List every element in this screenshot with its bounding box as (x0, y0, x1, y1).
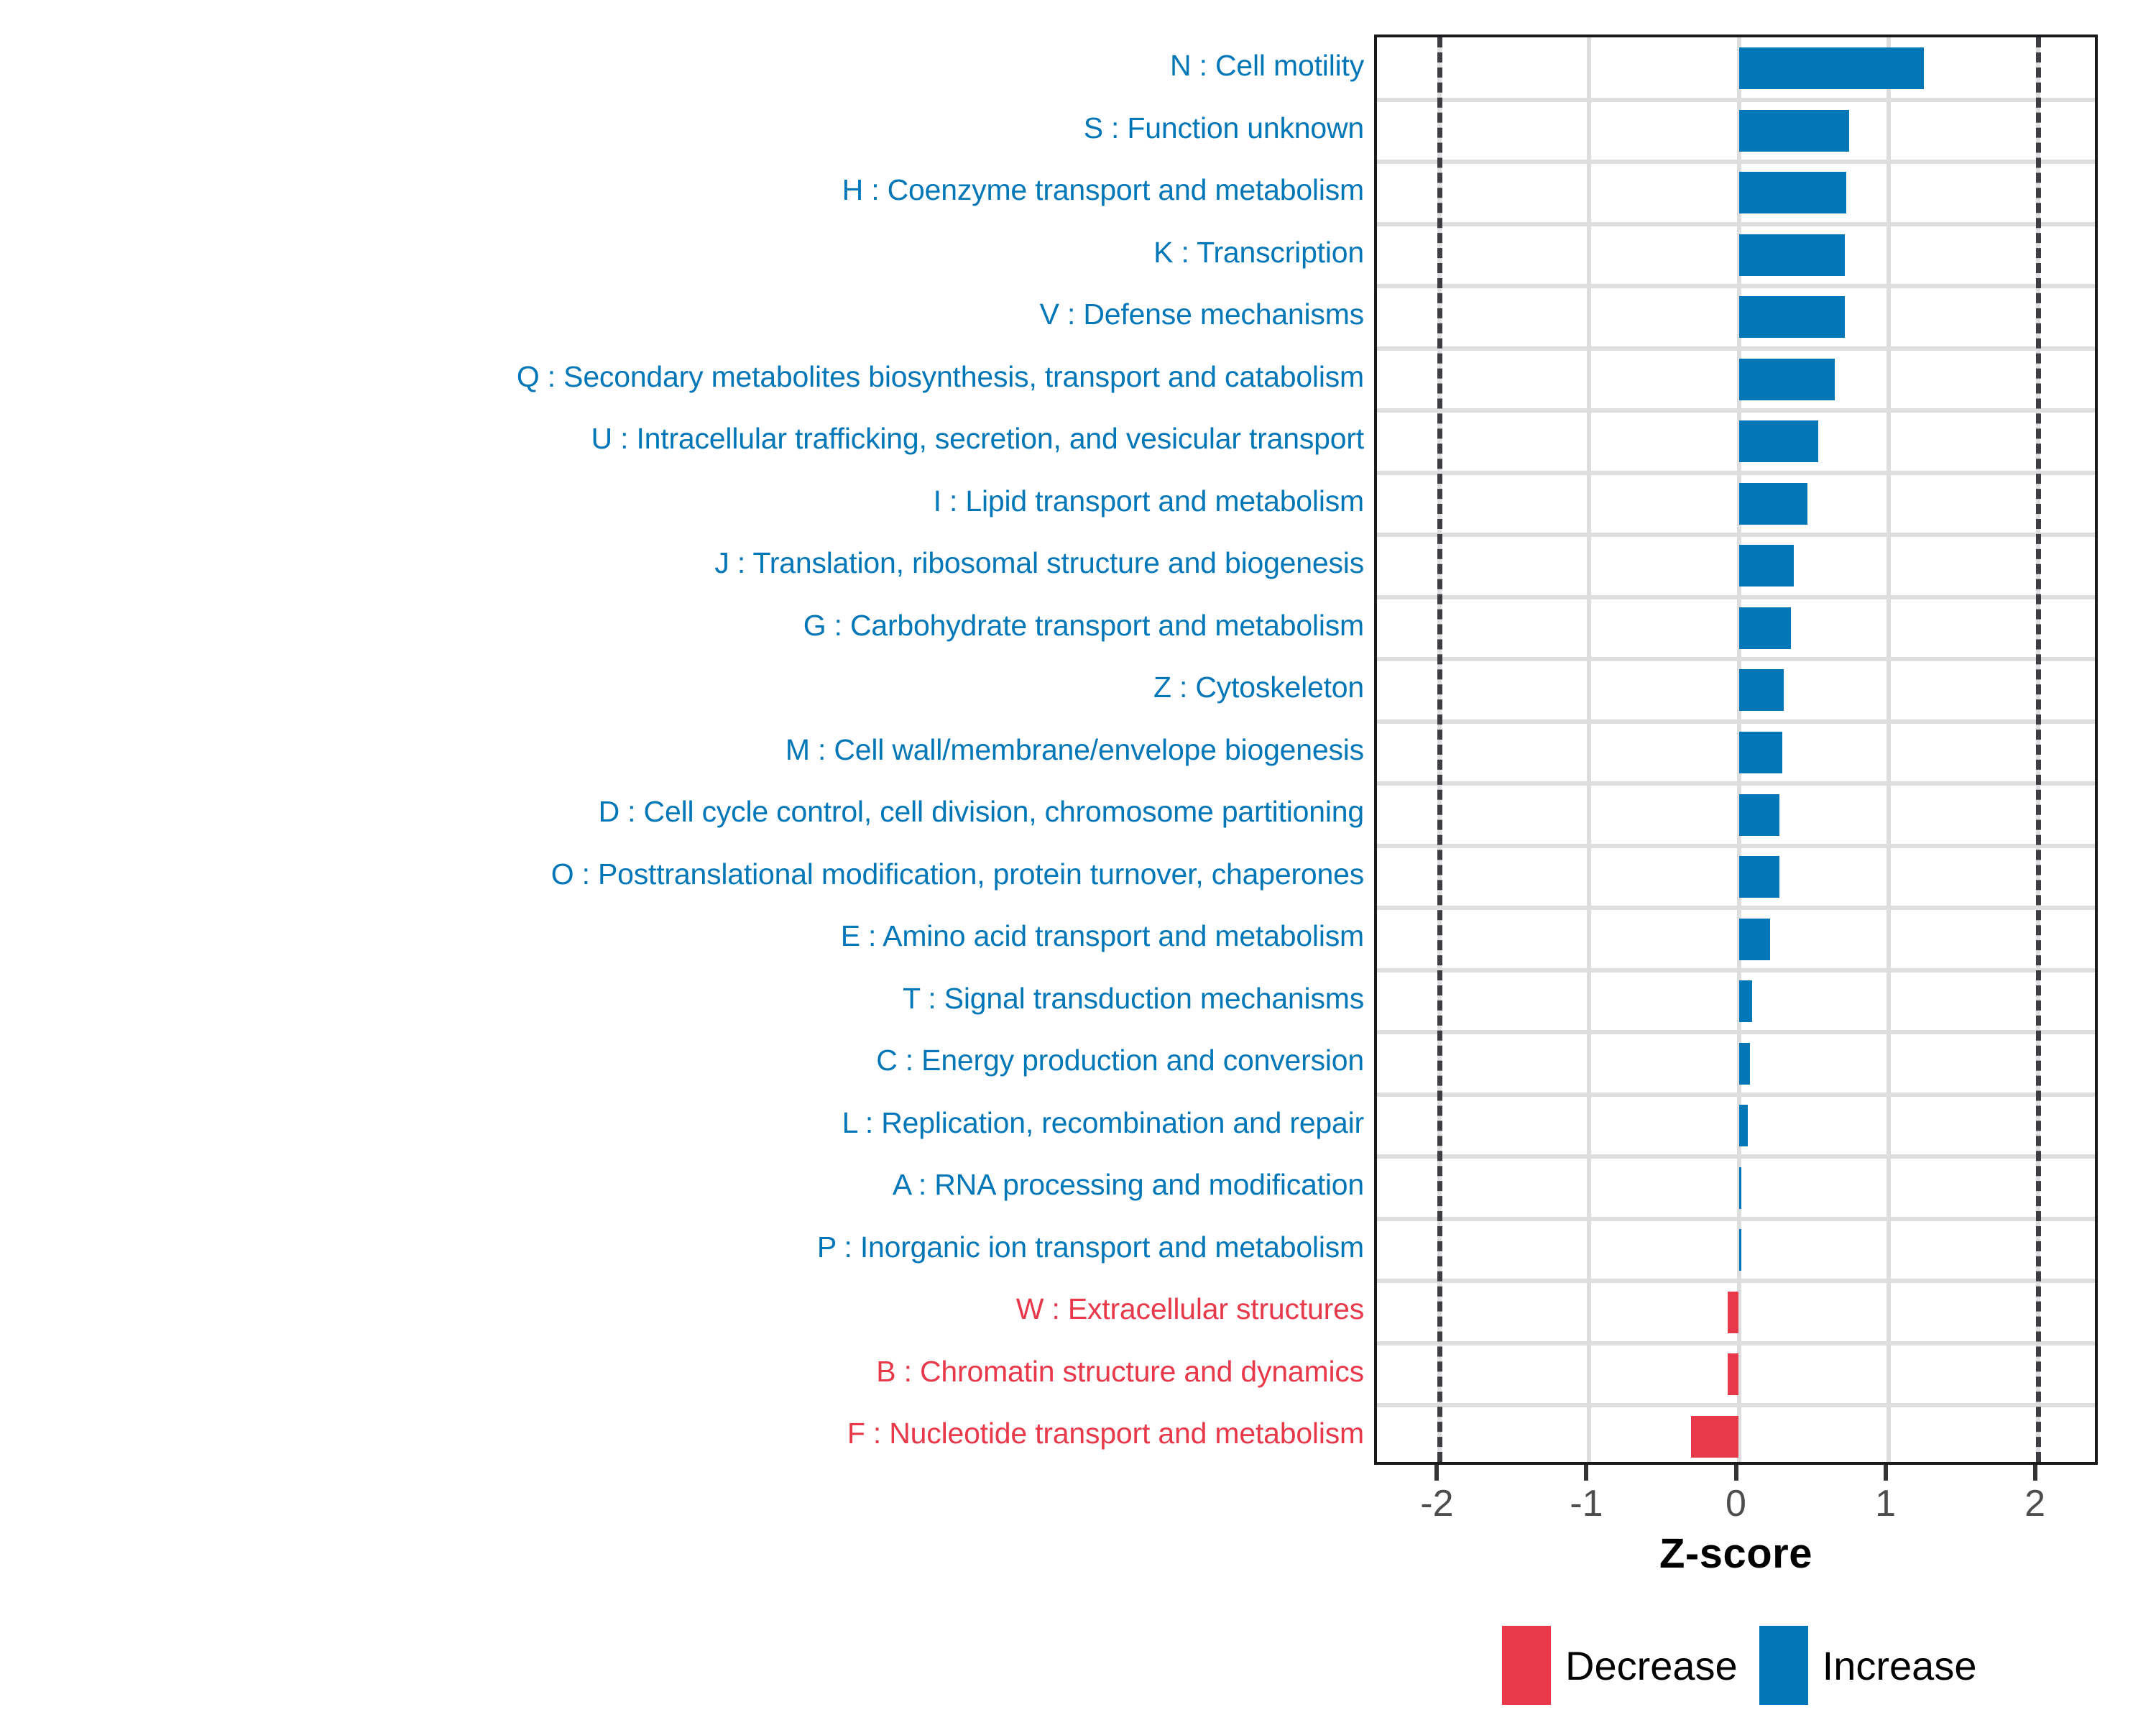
bar (1739, 919, 1771, 960)
bar-series (1377, 37, 2095, 1462)
bar-row (1377, 535, 2095, 597)
bar-row (1377, 1156, 2095, 1219)
y-axis-label: N : Cell motility (1170, 34, 1374, 97)
x-tick-mark (1884, 1465, 1888, 1481)
bar (1739, 607, 1792, 649)
legend-swatch-increase (1759, 1626, 1808, 1705)
bar-row (1377, 162, 2095, 224)
bar (1739, 980, 1753, 1022)
y-axis-label: H : Coenzyme transport and metabolism (842, 159, 1374, 221)
bar-row (1377, 722, 2095, 784)
x-axis-title: Z-score (1374, 1529, 2098, 1578)
y-axis-label: F : Nucleotide transport and metabolism (847, 1402, 1374, 1465)
bar-row (1377, 783, 2095, 846)
y-axis-label: I : Lipid transport and metabolism (934, 470, 1374, 533)
legend-label: Decrease (1565, 1642, 1738, 1689)
x-axis-tick-labels: -2-1012 (1374, 1482, 2098, 1525)
y-axis-label: Z : Cytoskeleton (1153, 656, 1374, 719)
y-axis-label: W : Extracellular structures (1016, 1278, 1374, 1340)
bar (1739, 110, 1850, 152)
x-tick-mark (1584, 1465, 1588, 1481)
bar-row (1377, 410, 2095, 473)
y-axis-label: P : Inorganic ion transport and metaboli… (817, 1216, 1374, 1279)
y-axis-label: U : Intracellular trafficking, secretion… (591, 408, 1374, 470)
bar (1739, 483, 1808, 525)
bar (1739, 856, 1779, 898)
x-tick-mark (2033, 1465, 2037, 1481)
x-tick-label: 2 (2024, 1482, 2045, 1525)
y-axis-label: B : Chromatin structure and dynamics (876, 1340, 1374, 1403)
y-axis-label: D : Cell cycle control, cell division, c… (599, 781, 1374, 843)
bar-row (1377, 286, 2095, 349)
bar-row (1377, 659, 2095, 722)
bar-row (1377, 473, 2095, 535)
bar-row (1377, 224, 2095, 287)
y-axis-label: G : Carbohydrate transport and metabolis… (803, 594, 1374, 657)
bar-row (1377, 597, 2095, 660)
bar-row (1377, 970, 2095, 1033)
bar-row (1377, 1219, 2095, 1282)
plot-panel-inner (1377, 37, 2095, 1462)
bar-row (1377, 1281, 2095, 1343)
plot-panel (1374, 34, 2098, 1465)
legend-item-decrease[interactable]: Decrease (1502, 1626, 1738, 1705)
x-tick-mark (1734, 1465, 1738, 1481)
bar-row (1377, 1032, 2095, 1095)
bar-row (1377, 349, 2095, 411)
y-axis-label: K : Transcription (1153, 221, 1374, 284)
y-axis-label: O : Posttranslational modification, prot… (551, 843, 1374, 906)
bar-row (1377, 100, 2095, 162)
x-axis-tick-marks (1374, 1465, 2098, 1481)
bar (1739, 359, 1835, 400)
bar (1739, 1229, 1741, 1271)
y-axis-category-labels: N : Cell motilityS : Function unknownH :… (0, 34, 1374, 1465)
bar (1739, 1167, 1741, 1209)
y-axis-label: C : Energy production and conversion (876, 1029, 1374, 1092)
y-axis-label: A : RNA processing and modification (893, 1154, 1374, 1216)
x-tick-label: -1 (1570, 1482, 1603, 1525)
bar-row (1377, 37, 2095, 100)
x-tick-mark (1434, 1465, 1439, 1481)
bar (1739, 296, 1846, 338)
bar (1739, 172, 1847, 213)
bar (1739, 669, 1784, 711)
y-axis-label: E : Amino acid transport and metabolism (841, 905, 1374, 967)
bar-row (1377, 908, 2095, 970)
bar (1728, 1353, 1739, 1395)
y-axis-label: S : Function unknown (1084, 97, 1374, 160)
bar (1739, 47, 1925, 89)
legend-label: Increase (1823, 1642, 1977, 1689)
bar (1739, 420, 1818, 462)
cog-zscore-barchart-figure: N : Cell motilityS : Function unknownH :… (0, 0, 2156, 1725)
y-axis-label: L : Replication, recombination and repai… (842, 1092, 1374, 1154)
bar (1739, 1105, 1748, 1146)
bar (1739, 794, 1779, 836)
bar-row (1377, 1343, 2095, 1406)
bar (1728, 1292, 1739, 1333)
y-axis-label: Q : Secondary metabolites biosynthesis, … (517, 346, 1374, 408)
bar (1739, 234, 1846, 276)
bar (1739, 732, 1782, 773)
y-axis-label: J : Translation, ribosomal structure and… (714, 532, 1374, 594)
legend: DecreaseIncrease (1502, 1626, 1976, 1705)
legend-item-increase[interactable]: Increase (1759, 1626, 1977, 1705)
bar (1739, 1043, 1751, 1085)
y-axis-label: T : Signal transduction mechanisms (903, 967, 1374, 1030)
bar-row (1377, 1095, 2095, 1157)
bar (1739, 545, 1795, 586)
legend-swatch-decrease (1502, 1626, 1551, 1705)
x-tick-label: -2 (1420, 1482, 1453, 1525)
x-tick-label: 1 (1875, 1482, 1896, 1525)
bar-row (1377, 1405, 2095, 1465)
bar (1691, 1416, 1739, 1458)
x-tick-label: 0 (1726, 1482, 1746, 1525)
bar-row (1377, 846, 2095, 908)
y-axis-label: V : Defense mechanisms (1040, 283, 1374, 346)
y-axis-label: M : Cell wall/membrane/envelope biogenes… (786, 719, 1374, 781)
